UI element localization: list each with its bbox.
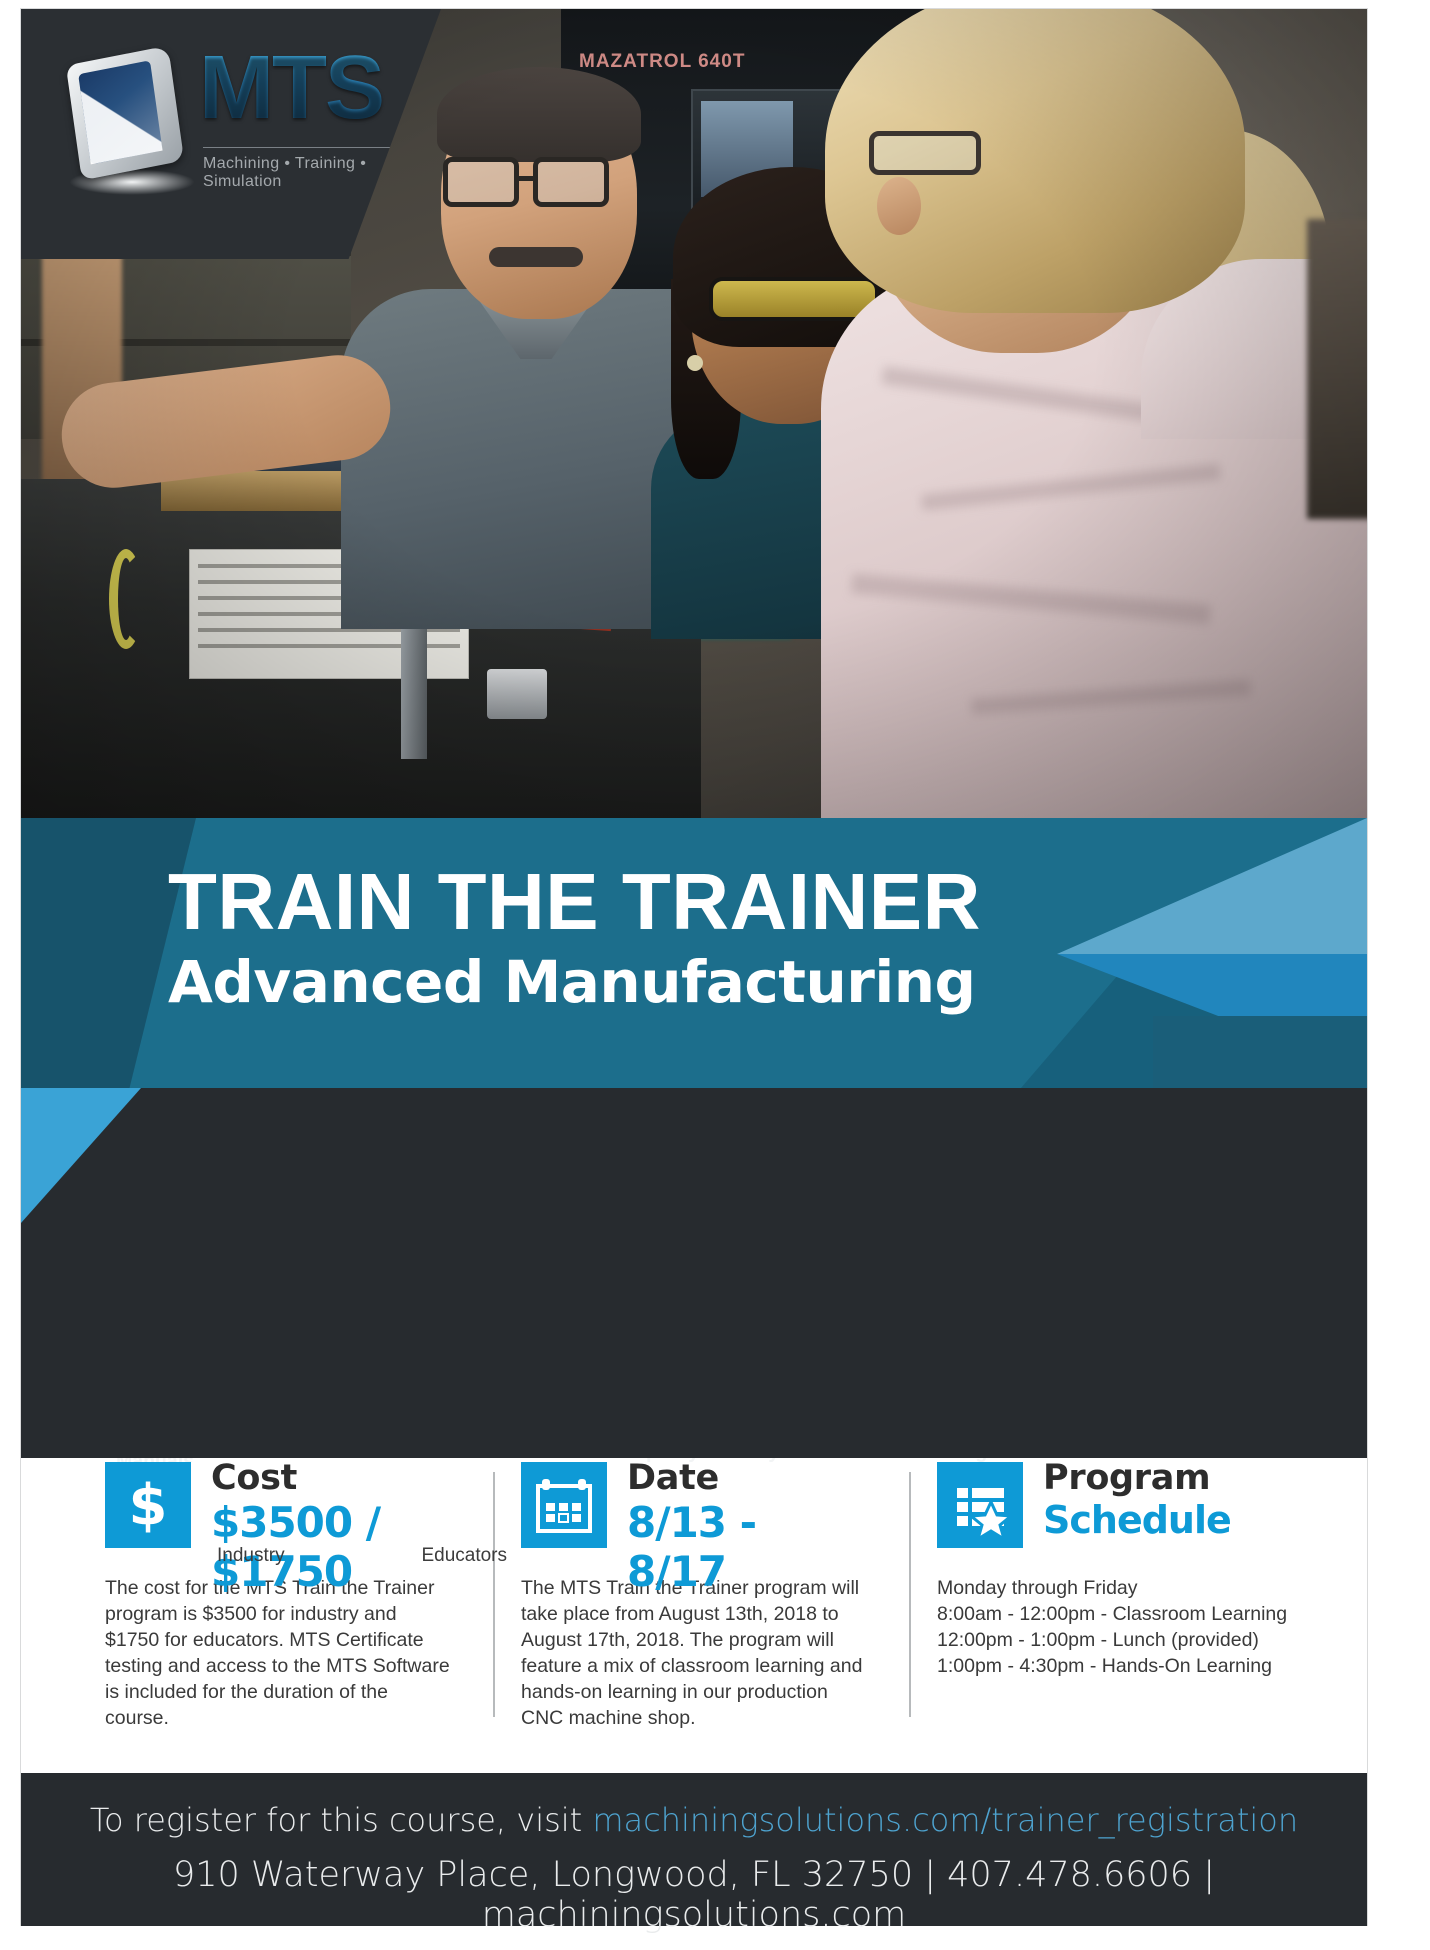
content-dark-band (21, 1088, 1367, 1458)
date-description: The MTS Train the Trainer program will t… (521, 1575, 866, 1731)
program-header: Program Schedule (937, 1462, 1322, 1567)
cost-sublabels: Industry Educators (217, 1545, 507, 1567)
title-band-light-chevron (1057, 818, 1367, 954)
column-divider (909, 1472, 911, 1717)
dollar-sign-icon: $ (105, 1462, 191, 1548)
schedule-list-star-icon (937, 1462, 1023, 1548)
date-title: Date (627, 1458, 719, 1498)
program-title: Program (1043, 1458, 1210, 1498)
flyer-page: MAZATROL 640T (0, 0, 1430, 1950)
page-title: TRAIN THE TRAINER (168, 864, 981, 940)
program-value: Schedule (1043, 1498, 1231, 1542)
schedule-line: Monday through Friday (937, 1575, 1322, 1601)
column-divider (493, 1472, 495, 1717)
cost-sublabel-educators: Educators (421, 1545, 507, 1567)
page-subtitle: Advanced Manufacturing (168, 953, 976, 1011)
schedule-line: 1:00pm - 4:30pm - Hands-On Learning (937, 1653, 1322, 1679)
info-columns-row: $ Cost $3500 / $1750 Industry Educators … (21, 1462, 1367, 1762)
logo-diagonal-slash (78, 60, 162, 164)
program-schedule-lines: Monday through Friday 8:00am - 12:00pm -… (937, 1575, 1322, 1679)
cost-sublabel-industry: Industry (217, 1545, 285, 1567)
info-column-date: Date 8/13 - 8/17 The MTS Train the Train… (521, 1462, 866, 1731)
cost-header: $ Cost $3500 / $1750 Industry Educators (105, 1462, 450, 1567)
logo-monitor-screen (78, 60, 162, 164)
svg-text:$: $ (129, 1473, 168, 1538)
footer-contact-line: 910 Waterway Place, Longwood, FL 32750 |… (21, 1855, 1367, 1935)
date-header: Date 8/13 - 8/17 (521, 1462, 866, 1567)
date-value: 8/13 - 8/17 (627, 1498, 866, 1596)
logo-wordmark: MTS (199, 43, 383, 133)
monitor-cube-logo-icon (57, 49, 187, 189)
cost-description: The cost for the MTS Train the Trainer p… (105, 1575, 450, 1731)
info-column-program-schedule: Program Schedule Monday through Friday 8… (937, 1462, 1322, 1679)
logo-monitor-body (66, 46, 184, 181)
footer: To register for this course, visit machi… (21, 1773, 1367, 1926)
schedule-line: 8:00am - 12:00pm - Classroom Learning (937, 1601, 1322, 1627)
info-column-cost: $ Cost $3500 / $1750 Industry Educators … (105, 1462, 450, 1731)
calendar-icon (521, 1462, 607, 1548)
schedule-line: 12:00pm - 1:00pm - Lunch (provided) (937, 1627, 1322, 1653)
title-band: TRAIN THE TRAINER Advanced Manufacturing (21, 818, 1367, 1088)
footer-register-prefix: To register for this course, visit (90, 1801, 592, 1839)
cost-title: Cost (211, 1458, 297, 1498)
dark-band-blue-wedge (21, 1088, 141, 1223)
registration-link[interactable]: machiningsolutions.com/trainer_registrat… (592, 1801, 1298, 1839)
title-band-lower-block (1153, 1016, 1367, 1088)
footer-register-line: To register for this course, visit machi… (21, 1801, 1367, 1839)
